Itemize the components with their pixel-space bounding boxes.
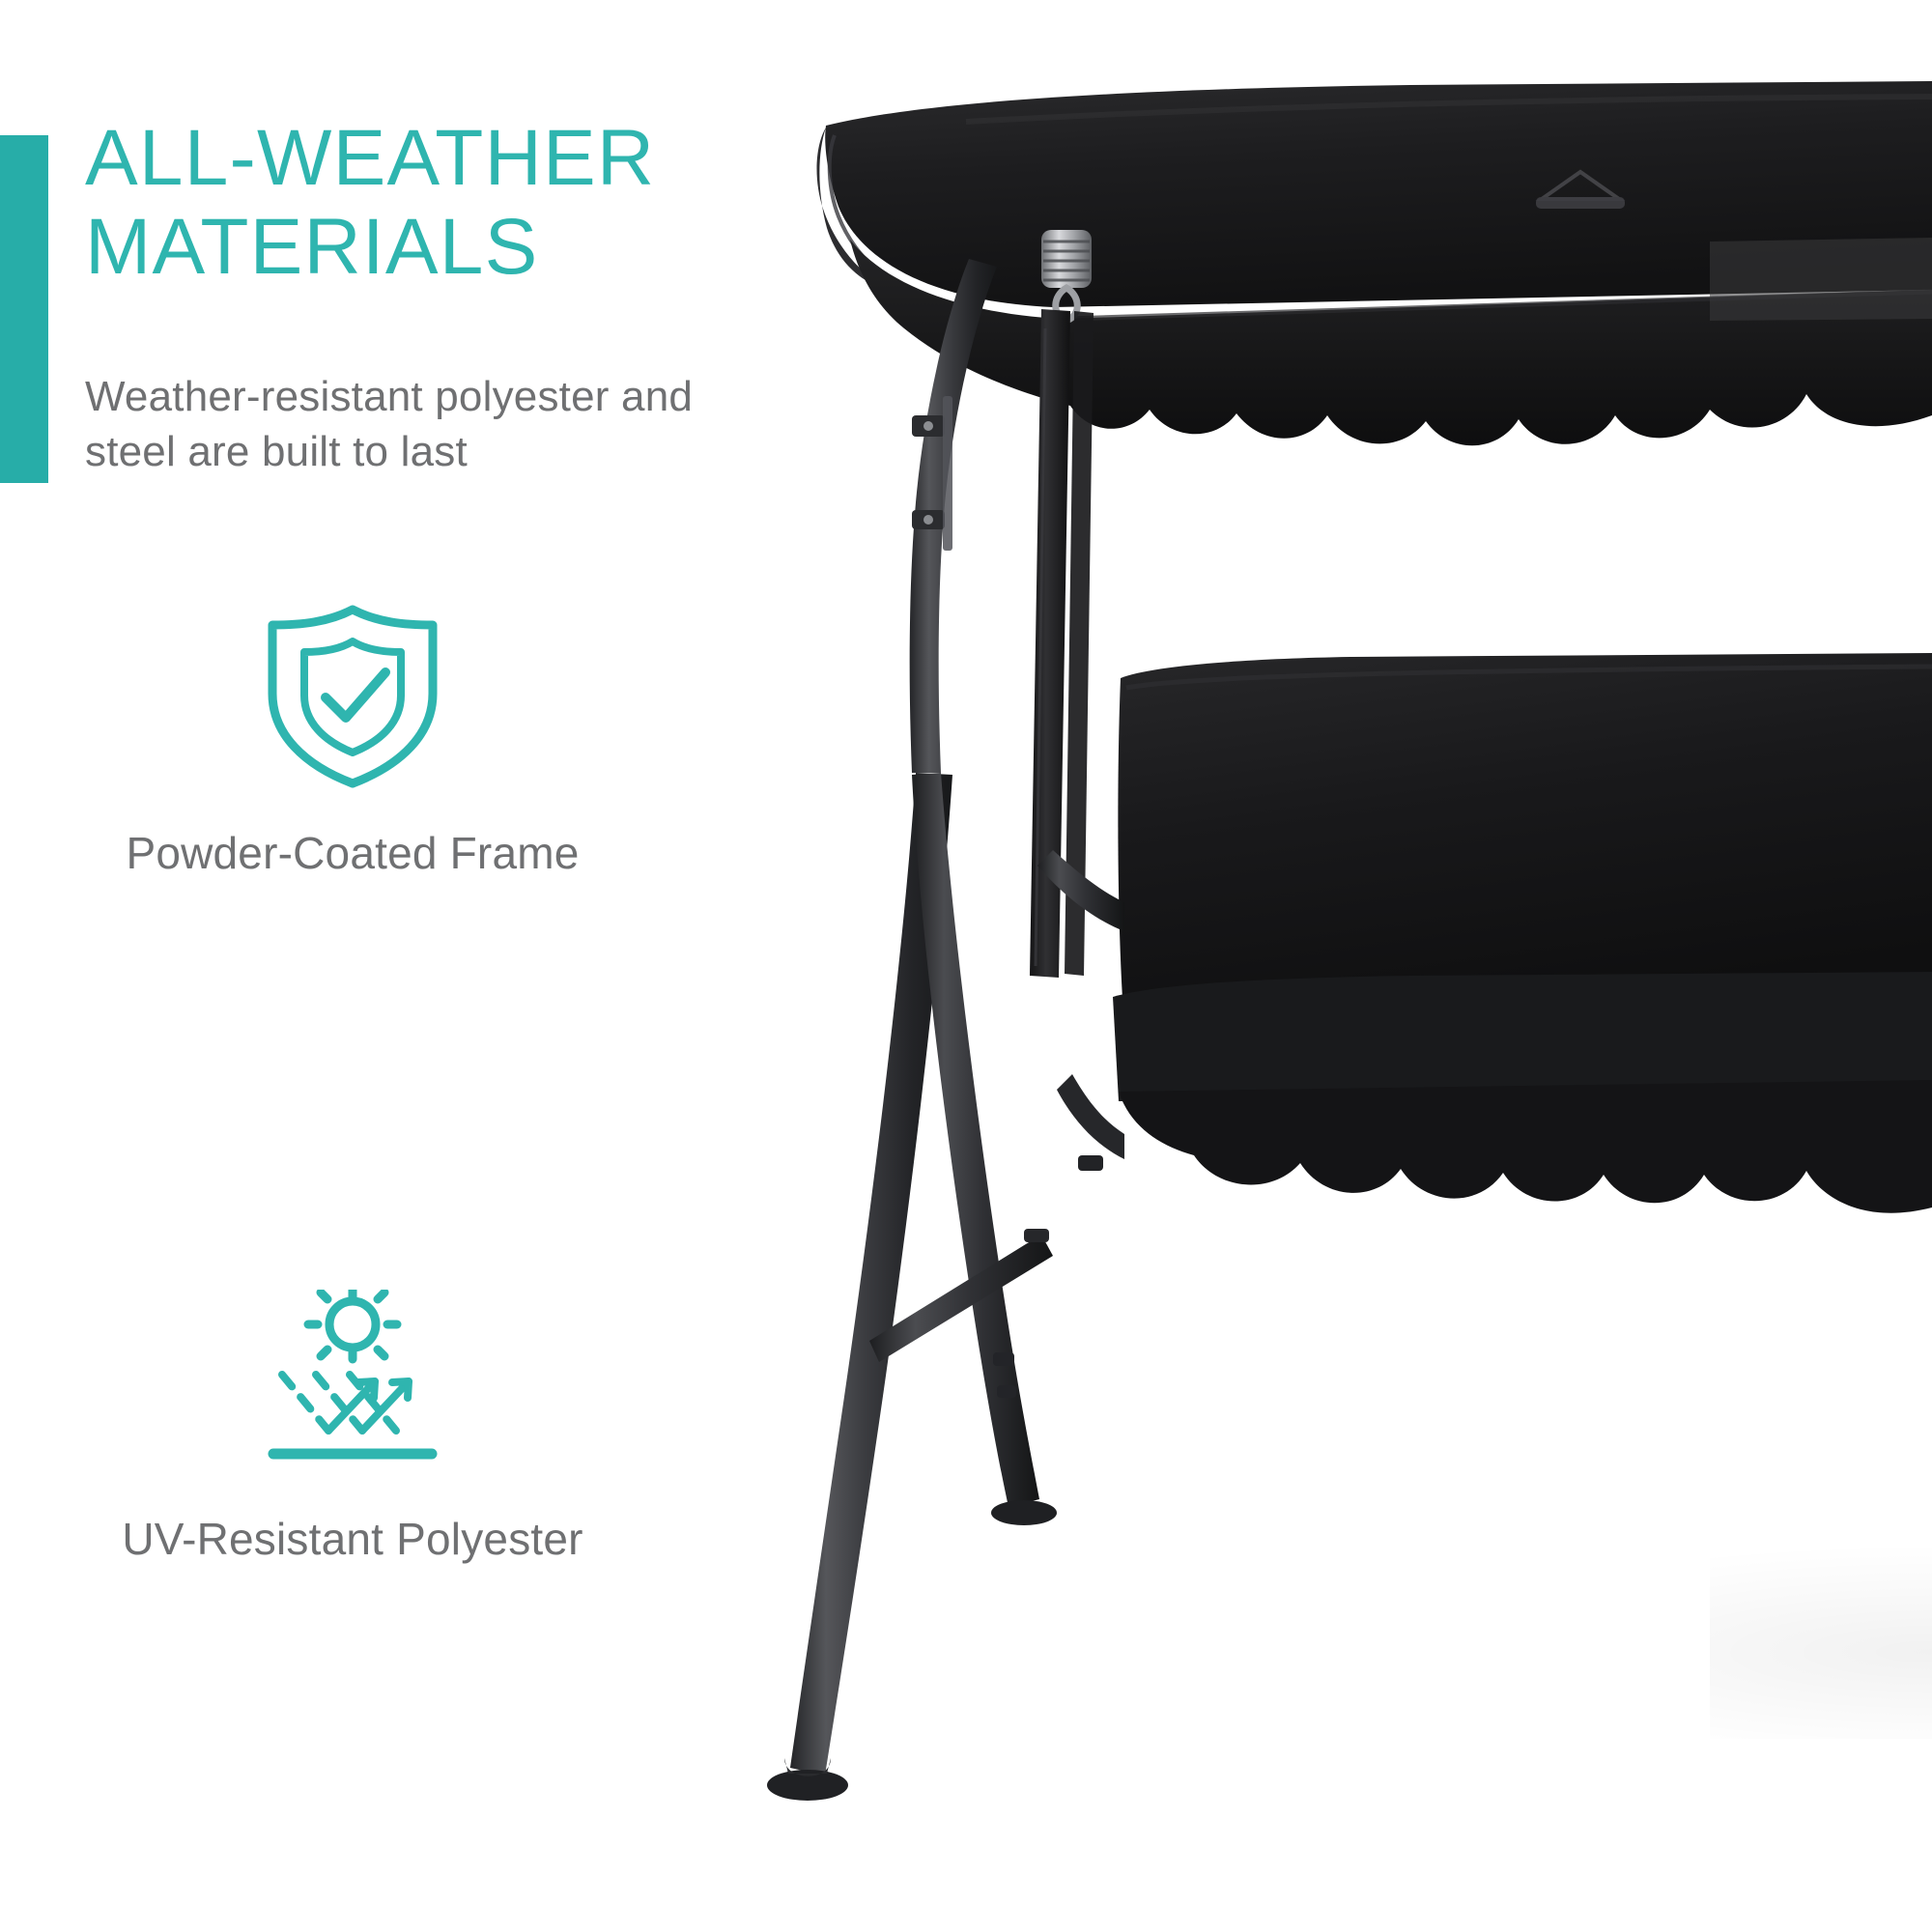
bolt-head	[923, 515, 933, 525]
product-photo	[734, 0, 1932, 1932]
accent-bar	[0, 135, 48, 483]
foot-cap	[991, 1500, 1057, 1525]
seat-bottom-cushion	[1113, 972, 1932, 1213]
seat-skirt	[1119, 1080, 1932, 1213]
page-subtitle: Weather-resistant polyester and steel ar…	[85, 369, 761, 479]
bolt-head	[923, 421, 933, 431]
seat-back-cushion	[1118, 653, 1932, 1028]
product-illustration	[734, 0, 1932, 1932]
feature-label: Powder-Coated Frame	[101, 825, 604, 883]
feature-powder-coated-frame: Powder-Coated Frame	[101, 599, 604, 883]
feature-uv-resistant-polyester: UV-Resistant Polyester	[101, 1285, 604, 1569]
canopy-underside	[1710, 238, 1932, 321]
feature-label: UV-Resistant Polyester	[101, 1511, 604, 1569]
spring-hook	[1041, 230, 1092, 321]
shield-check-icon	[101, 599, 604, 792]
uv-sun-deflect-icon	[101, 1285, 604, 1478]
